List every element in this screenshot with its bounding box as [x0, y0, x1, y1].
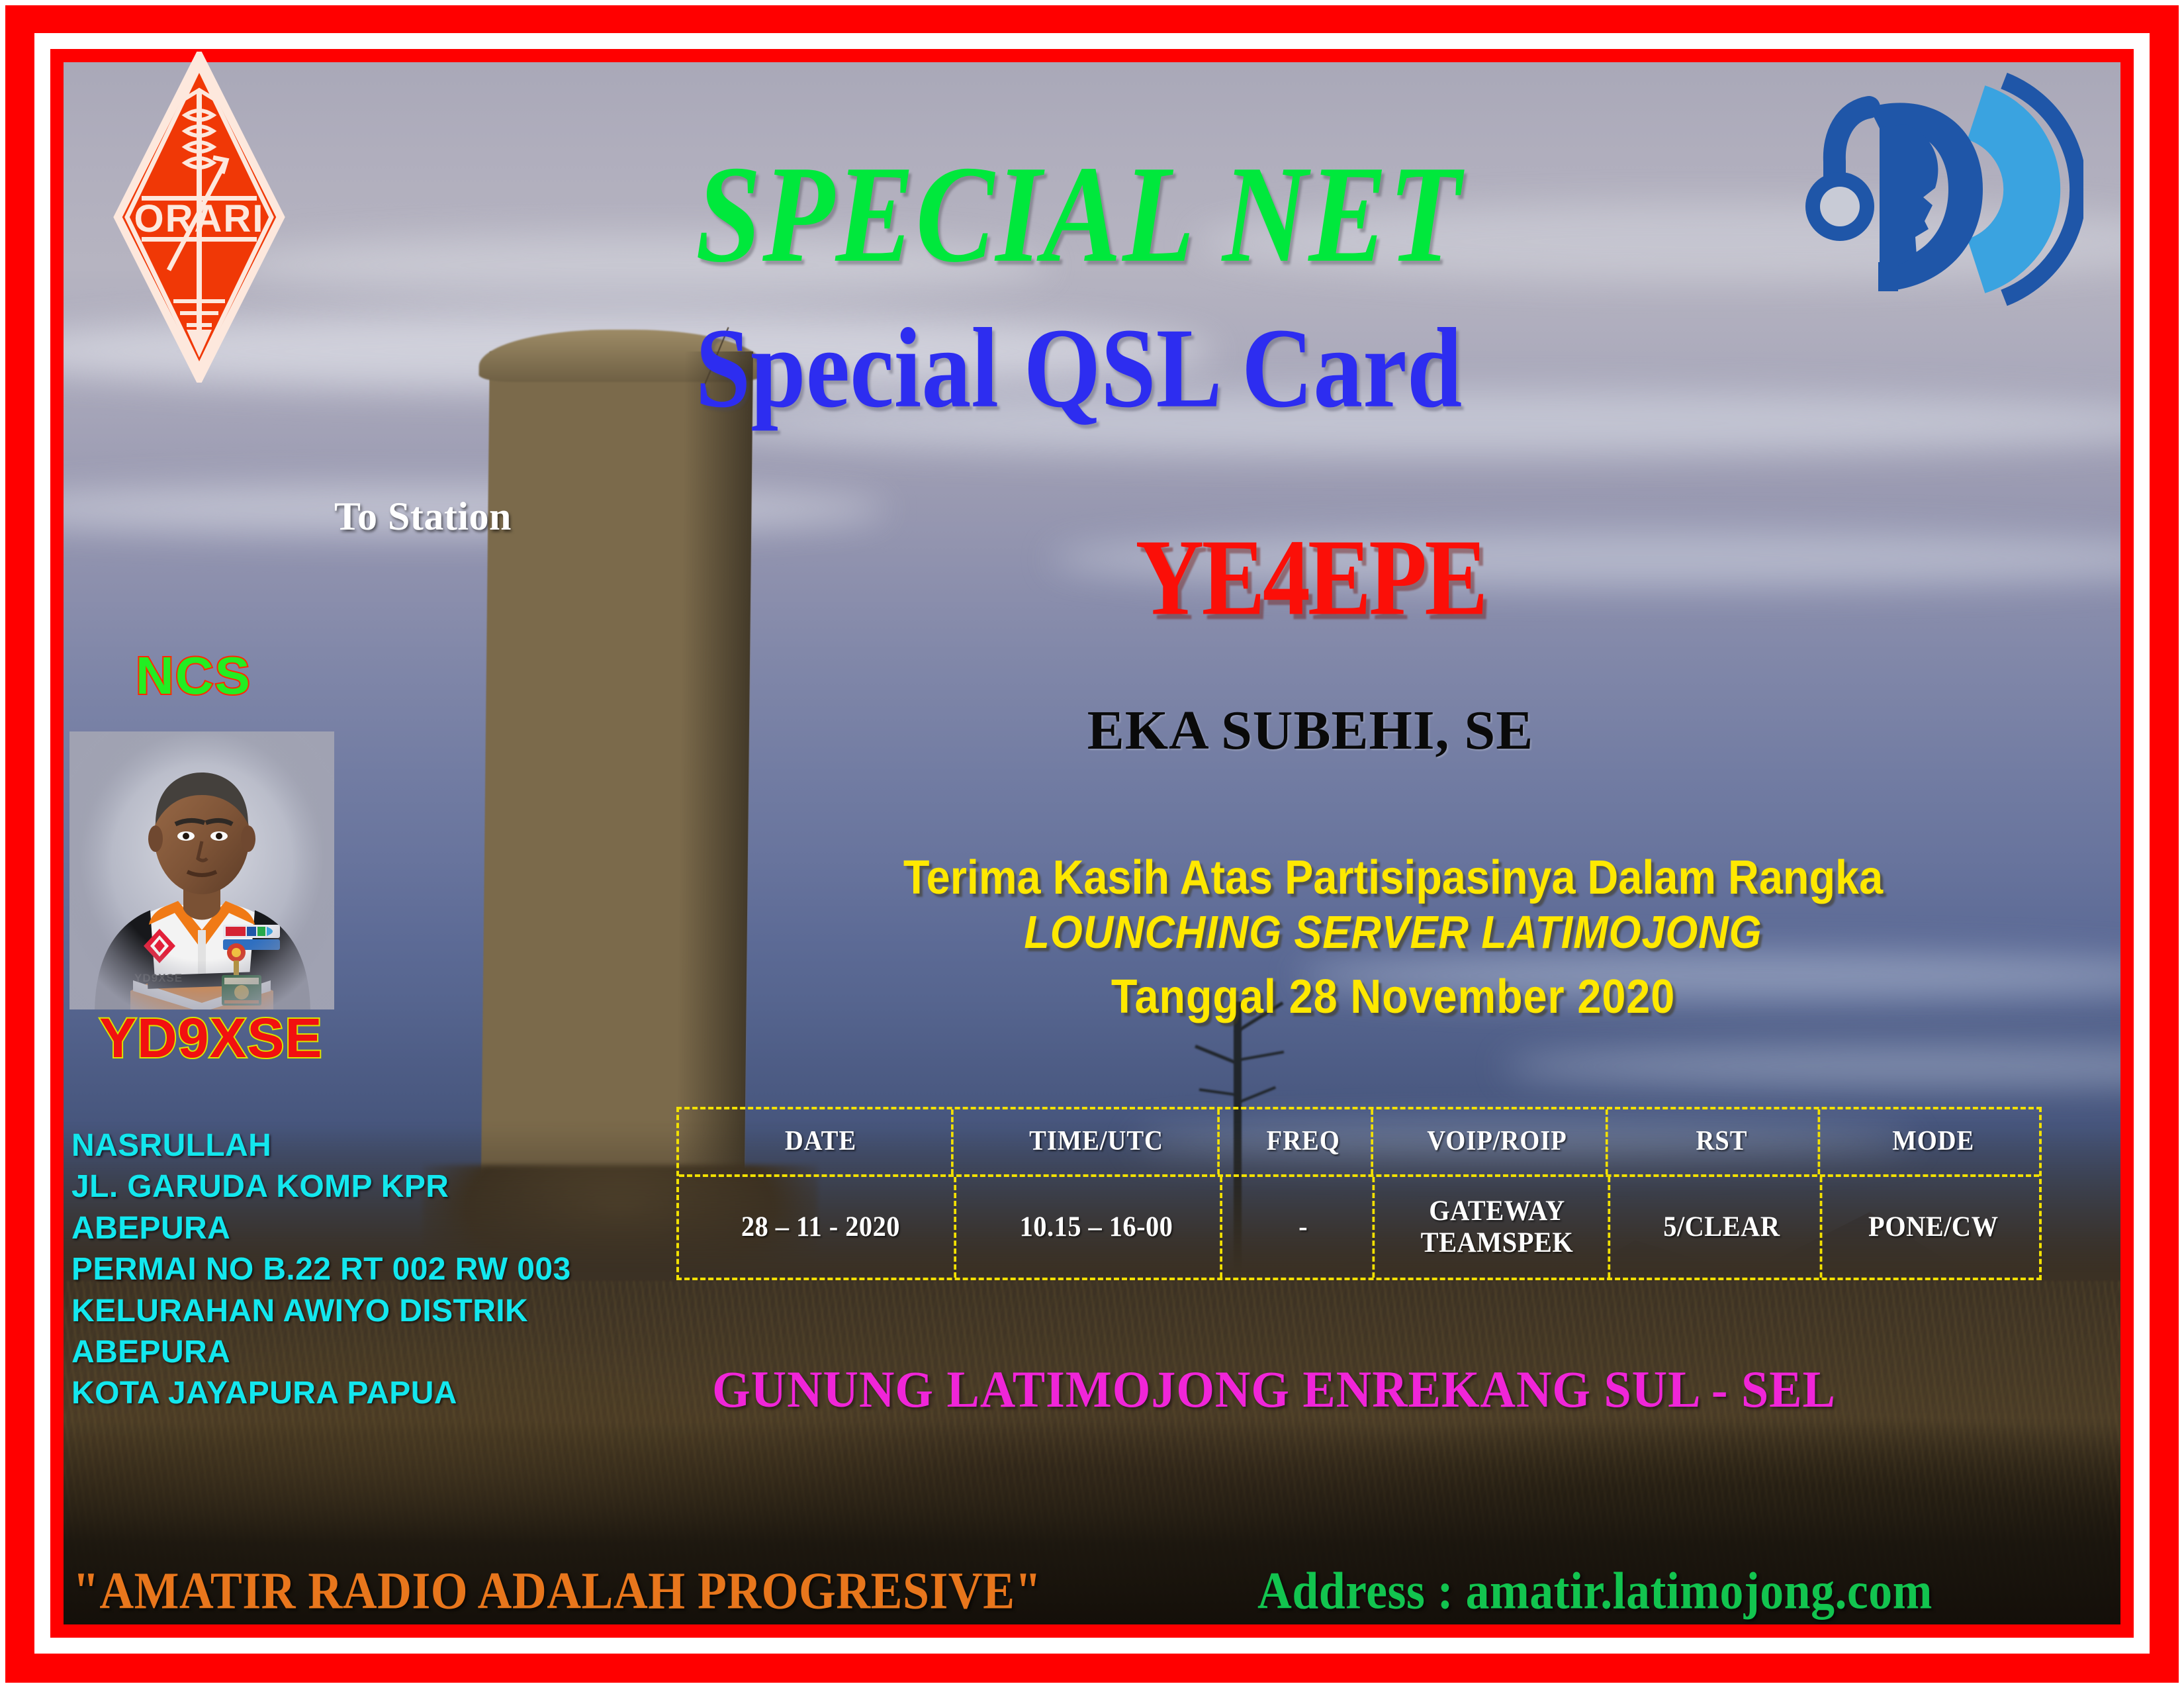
address-line: NASRULLAH [71, 1125, 667, 1166]
address-line: JL. GARUDA KOMP KPR [71, 1166, 667, 1207]
cell-voip: GATEWAY TEAMSPEK [1387, 1177, 1610, 1278]
address-line: KOTA JAYAPURA PAPUA [71, 1373, 667, 1414]
column-header-date: DATE [690, 1109, 953, 1174]
cell-freq: - [1234, 1177, 1375, 1278]
qsl-card: ORARI SPECIAL NET Special QSL Card T [0, 0, 2184, 1688]
address-line: KELURAHAN AWIYO DISTRIK [71, 1291, 667, 1332]
ncs-operator-photo: YD9XSE [69, 731, 334, 1009]
address-line: ABEPURA [71, 1332, 667, 1373]
column-header-time: TIME/UTC [976, 1109, 1220, 1174]
column-header-mode: MODE [1837, 1109, 2030, 1174]
table-header-row: DATE TIME/UTC FREQ VOIP/ROIP RST MODE [679, 1109, 2039, 1177]
orari-diamond-logo: ORARI [113, 52, 286, 383]
cell-time: 10.15 – 16-00 [973, 1177, 1222, 1278]
location-caption: GUNUNG LATIMOJONG ENREKANG SUL - SEL [629, 1360, 1919, 1420]
qso-log-table: DATE TIME/UTC FREQ VOIP/ROIP RST MODE 28… [676, 1107, 2042, 1280]
orari-logo-text: ORARI [134, 197, 265, 240]
footer-motto: "AMATIR RADIO ADALAH PROGRESIVE" [73, 1561, 1042, 1622]
to-station-label: To Station [334, 494, 512, 539]
page-title: SPECIAL NET [457, 144, 1701, 283]
column-header-rst: RST [1626, 1109, 1820, 1174]
ncs-callsign: YD9XSE [99, 1006, 323, 1070]
station-callsign: YE4EPE [866, 523, 1755, 632]
table-row: 28 – 11 - 2020 10.15 – 16-00 - GATEWAY T… [679, 1177, 2039, 1278]
cell-mode: PONE/CW [1835, 1177, 2032, 1278]
column-header-voip: VOIP/ROIP [1389, 1109, 1608, 1174]
address-line: ABEPURA [71, 1208, 667, 1249]
ncs-label: NCS [136, 645, 251, 706]
column-header-freq: FREQ [1236, 1109, 1373, 1174]
thanks-line-3: Tanggal 28 November 2020 [813, 962, 1974, 1031]
stone-monument-pillar [480, 352, 753, 1227]
mailing-address: NASRULLAH JL. GARUDA KOMP KPR ABEPURA PE… [71, 1125, 667, 1415]
headset-profile-logo [1805, 64, 2083, 315]
cell-rst: 5/CLEAR [1623, 1177, 1821, 1278]
page-subtitle: Special QSL Card [457, 311, 1701, 426]
thanks-line-1: Terima Kasih Atas Partisipasinya Dalam R… [813, 854, 1974, 902]
thanks-line-2: LOUNCHING SERVER LATIMOJONG [813, 902, 1974, 962]
operator-name: EKA SUBEHI, SE [847, 698, 1774, 763]
thanks-message: Terima Kasih Atas Partisipasinya Dalam R… [748, 854, 2038, 1032]
address-line: PERMAI NO B.22 RT 002 RW 003 [71, 1249, 667, 1290]
footer-web-address: Address : amatir.latimojong.com [1257, 1561, 1933, 1622]
cell-date: 28 – 11 - 2020 [688, 1177, 956, 1278]
